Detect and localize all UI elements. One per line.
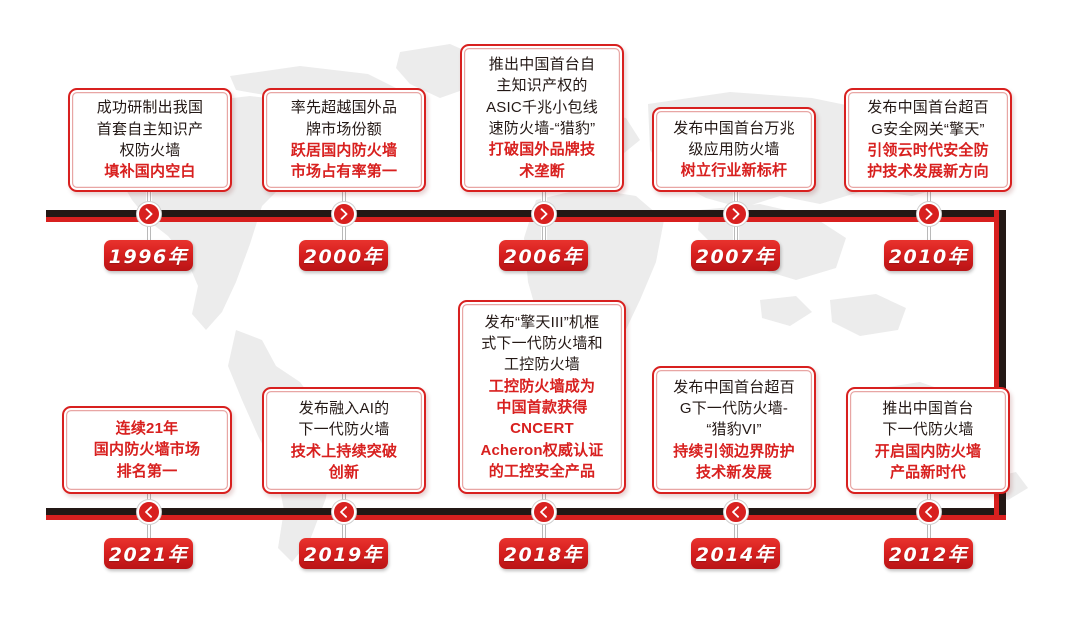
timeline-track-top — [46, 210, 1006, 217]
event-card-2010[interactable]: 发布中国首台超百 G安全网关“擎天” 引领云时代安全防 护技术发展新方向 — [844, 88, 1012, 192]
card-highlight: 的工控安全产品 — [489, 461, 595, 482]
year-badge-2000[interactable]: 2000年 — [299, 240, 388, 271]
year-badge-2014[interactable]: 2014年 — [691, 538, 780, 569]
card-highlight: 连续21年 — [116, 418, 179, 439]
card-highlight: 持续引领边界防护 — [673, 441, 795, 462]
year-badge-2019[interactable]: 2019年 — [299, 538, 388, 569]
card-line: ASIC千兆小包线 — [486, 97, 598, 118]
chevron-left-icon — [339, 506, 349, 518]
chevron-right-icon — [339, 208, 349, 220]
card-line: 下一代防火墙 — [882, 419, 973, 440]
year-badge-2018[interactable]: 2018年 — [499, 538, 588, 569]
event-card-2000[interactable]: 率先超越国外品 牌市场份额 跃居国内防火墙 市场占有率第一 — [262, 88, 426, 192]
card-highlight: 打破国外品牌技 — [489, 139, 595, 160]
card-line: 发布融入AI的 — [299, 398, 390, 419]
card-highlight: 跃居国内防火墙 — [291, 140, 397, 161]
card-line: 推出中国首台 — [882, 398, 973, 419]
card-highlight: 产品新时代 — [890, 462, 966, 483]
card-line: “猎豹VI” — [706, 419, 761, 440]
year-badge-2021[interactable]: 2021年 — [104, 538, 193, 569]
timeline-node-2007[interactable] — [724, 202, 748, 226]
timeline-node-2019[interactable] — [332, 500, 356, 524]
timeline-node-2018[interactable] — [532, 500, 556, 524]
card-line: 发布中国首台超百 — [867, 97, 989, 118]
card-highlight: CNCERT — [510, 418, 574, 439]
card-line: 级应用防火墙 — [688, 139, 779, 160]
card-line: 成功研制出我国 — [97, 97, 203, 118]
card-highlight: 术垄断 — [519, 161, 565, 182]
card-highlight: 创新 — [329, 462, 359, 483]
chevron-right-icon — [731, 208, 741, 220]
event-card-2018[interactable]: 发布“擎天III”机框 式下一代防火墙和 工控防火墙 工控防火墙成为 中国首款获… — [458, 300, 626, 494]
card-highlight: 树立行业新标杆 — [681, 160, 787, 181]
timeline-infographic: 1996年 2000年 2006年 2007年 2010年 成功研制出我国 首套… — [0, 0, 1080, 626]
chevron-right-icon — [924, 208, 934, 220]
card-highlight: 中国首款获得 — [496, 397, 587, 418]
card-line: 推出中国首台自 — [489, 54, 595, 75]
card-line: 发布中国首台万兆 — [673, 118, 795, 139]
year-badge-1996[interactable]: 1996年 — [104, 240, 193, 271]
card-highlight: 开启国内防火墙 — [875, 441, 981, 462]
card-line: 发布中国首台超百 — [673, 377, 795, 398]
timeline-track-bottom — [46, 508, 1006, 515]
timeline-node-2006[interactable] — [532, 202, 556, 226]
card-highlight: 引领云时代安全防 — [867, 140, 989, 161]
event-card-2007[interactable]: 发布中国首台万兆 级应用防火墙 树立行业新标杆 — [652, 107, 816, 192]
card-line: 速防火墙-“猎豹” — [489, 118, 596, 139]
card-line: 率先超越国外品 — [291, 97, 397, 118]
event-card-2014[interactable]: 发布中国首台超百 G下一代防火墙- “猎豹VI” 持续引领边界防护 技术新发展 — [652, 366, 816, 494]
year-badge-2006[interactable]: 2006年 — [499, 240, 588, 271]
chevron-left-icon — [924, 506, 934, 518]
card-line: 首套自主知识产 — [97, 119, 203, 140]
chevron-left-icon — [144, 506, 154, 518]
card-highlight: 国内防火墙市场 — [94, 439, 200, 460]
card-highlight: 填补国内空白 — [104, 161, 195, 182]
card-highlight: 排名第一 — [117, 461, 178, 482]
card-highlight: 市场占有率第一 — [291, 161, 397, 182]
card-line: 权防火墙 — [120, 140, 181, 161]
year-badge-2012[interactable]: 2012年 — [884, 538, 973, 569]
event-card-2012[interactable]: 推出中国首台 下一代防火墙 开启国内防火墙 产品新时代 — [846, 387, 1010, 494]
card-line: G下一代防火墙- — [680, 398, 788, 419]
card-line: 牌市场份额 — [306, 119, 382, 140]
chevron-right-icon — [539, 208, 549, 220]
timeline-node-2021[interactable] — [137, 500, 161, 524]
timeline-node-2010[interactable] — [917, 202, 941, 226]
chevron-left-icon — [731, 506, 741, 518]
event-card-2021[interactable]: 连续21年 国内防火墙市场 排名第一 — [62, 406, 232, 494]
card-highlight: 护技术发展新方向 — [867, 161, 989, 182]
card-highlight: Acheron权威认证 — [480, 440, 603, 461]
chevron-left-icon — [539, 506, 549, 518]
card-line: 发布“擎天III”机框 — [485, 312, 600, 333]
year-badge-2010[interactable]: 2010年 — [884, 240, 973, 271]
chevron-right-icon — [144, 208, 154, 220]
card-line: 式下一代防火墙和 — [481, 333, 603, 354]
card-line: 下一代防火墙 — [298, 419, 389, 440]
timeline-node-2014[interactable] — [724, 500, 748, 524]
event-card-1996[interactable]: 成功研制出我国 首套自主知识产 权防火墙 填补国内空白 — [68, 88, 232, 192]
card-highlight: 技术上持续突破 — [291, 441, 397, 462]
card-line: G安全网关“擎天” — [871, 119, 984, 140]
year-badge-2007[interactable]: 2007年 — [691, 240, 780, 271]
card-line: 工控防火墙 — [504, 354, 580, 375]
event-card-2019[interactable]: 发布融入AI的 下一代防火墙 技术上持续突破 创新 — [262, 387, 426, 494]
timeline-node-2000[interactable] — [332, 202, 356, 226]
timeline-node-2012[interactable] — [917, 500, 941, 524]
card-line: 主知识产权的 — [496, 75, 587, 96]
timeline-node-1996[interactable] — [137, 202, 161, 226]
card-highlight: 工控防火墙成为 — [489, 376, 595, 397]
event-card-2006[interactable]: 推出中国首台自 主知识产权的 ASIC千兆小包线 速防火墙-“猎豹” 打破国外品… — [460, 44, 624, 192]
card-highlight: 技术新发展 — [696, 462, 772, 483]
